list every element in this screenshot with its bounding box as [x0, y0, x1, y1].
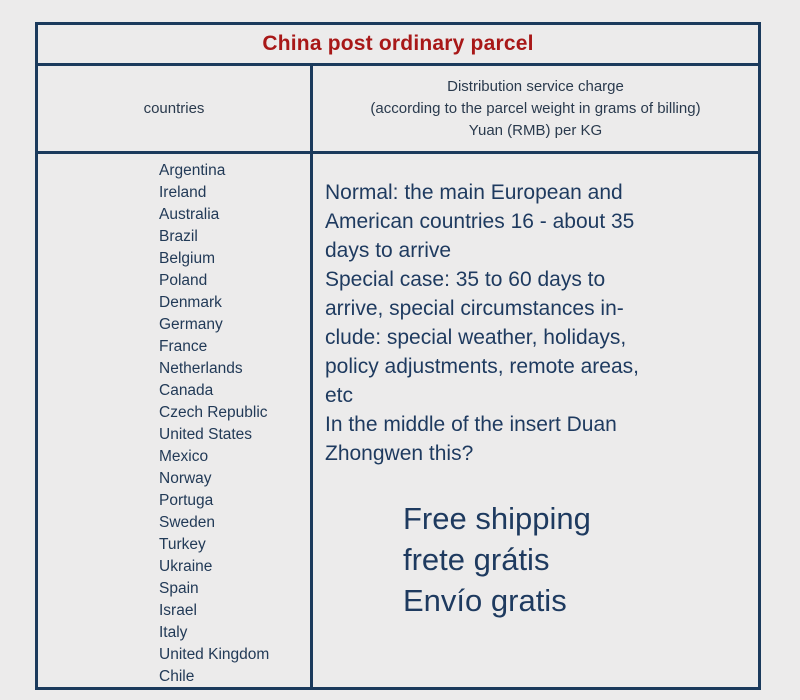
header-cell-charge: Distribution service charge (according t… — [313, 66, 758, 151]
country-item: Canada — [159, 380, 310, 402]
free-shipping-line: Envío gratis — [403, 580, 750, 621]
country-item: Chile — [159, 666, 310, 688]
shipping-details-cell: Normal: the main European andAmerican co… — [313, 154, 758, 687]
free-shipping-block: Free shippingfrete grátisEnvío gratis — [325, 498, 750, 621]
country-item: Ukraine — [159, 556, 310, 578]
delivery-note-line: etc — [325, 381, 750, 410]
country-item: Israel — [159, 600, 310, 622]
country-item: Argentina — [159, 160, 310, 182]
country-item: United Kingdom — [159, 644, 310, 666]
delivery-note-line: arrive, special circumstances in- — [325, 294, 750, 323]
table-header-row: countries Distribution service charge (a… — [38, 66, 758, 154]
delivery-note-line: Special case: 35 to 60 days to — [325, 265, 750, 294]
country-item: Czech Republic — [159, 402, 310, 424]
charge-header-line: Yuan (RMB) per KG — [469, 120, 602, 142]
country-item: Sweden — [159, 512, 310, 534]
country-item: United States — [159, 424, 310, 446]
delivery-note-line: American countries 16 - about 35 — [325, 207, 750, 236]
country-item: Spain — [159, 578, 310, 600]
table-body-row: ArgentinaIrelandAustraliaBrazilBelgiumPo… — [38, 154, 758, 687]
page-title: China post ordinary parcel — [262, 32, 533, 56]
delivery-note-line: clude: special weather, holidays, — [325, 323, 750, 352]
delivery-note-line: days to arrive — [325, 236, 750, 265]
table-title-row: China post ordinary parcel — [38, 25, 758, 66]
shipping-info-table: China post ordinary parcel countries Dis… — [35, 22, 761, 690]
charge-header-line: Distribution service charge — [447, 76, 624, 98]
delivery-note-line: Normal: the main European and — [325, 178, 750, 207]
free-shipping-line: frete grátis — [403, 539, 750, 580]
country-item: Norway — [159, 468, 310, 490]
country-list: ArgentinaIrelandAustraliaBrazilBelgiumPo… — [38, 154, 313, 687]
charge-header-line: (according to the parcel weight in grams… — [370, 98, 700, 120]
country-item: Turkey — [159, 534, 310, 556]
country-item: Italy — [159, 622, 310, 644]
country-item: France — [159, 336, 310, 358]
country-item: Netherlands — [159, 358, 310, 380]
country-item: Australia — [159, 204, 310, 226]
delivery-note-line: Zhongwen this? — [325, 439, 750, 468]
free-shipping-line: Free shipping — [403, 498, 750, 539]
country-item: Belgium — [159, 248, 310, 270]
countries-column-label: countries — [144, 100, 205, 117]
country-item: Denmark — [159, 292, 310, 314]
delivery-note-line: In the middle of the insert Duan — [325, 410, 750, 439]
country-item: Portuga — [159, 490, 310, 512]
header-cell-countries: countries — [38, 66, 313, 151]
country-item: Poland — [159, 270, 310, 292]
country-item: Brazil — [159, 226, 310, 248]
country-item: Ireland — [159, 182, 310, 204]
country-item: Mexico — [159, 446, 310, 468]
delivery-note-line: policy adjustments, remote areas, — [325, 352, 750, 381]
delivery-notes: Normal: the main European andAmerican co… — [325, 178, 750, 468]
country-item: Germany — [159, 314, 310, 336]
